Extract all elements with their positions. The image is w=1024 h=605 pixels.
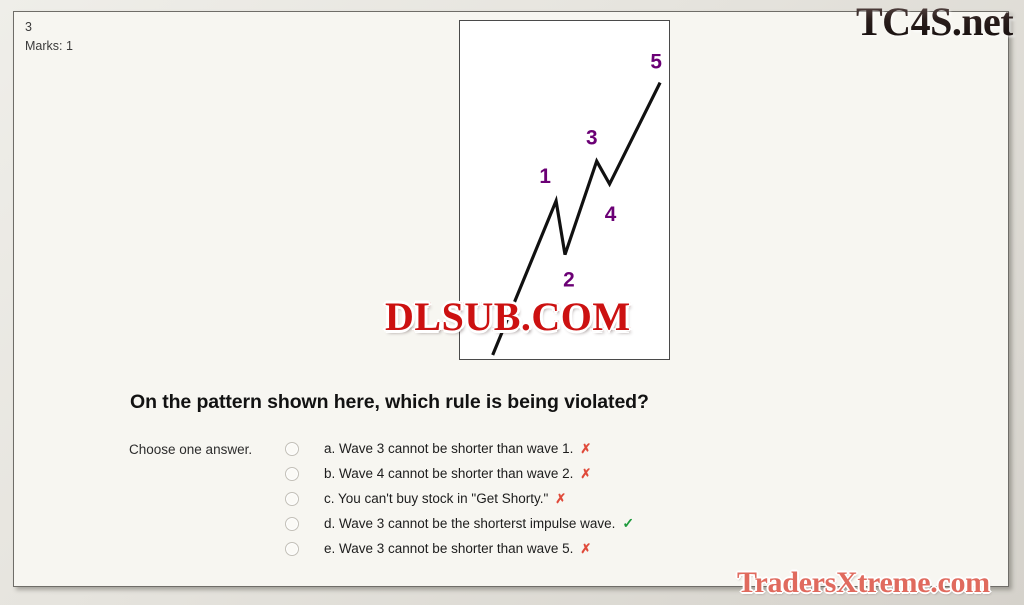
wave-label-3: 3 bbox=[586, 126, 598, 149]
choose-one-answer-label: Choose one answer. bbox=[129, 442, 252, 457]
answer-option-c[interactable]: c. You can't buy stock in "Get Shorty."✗ bbox=[282, 486, 842, 511]
wave-label-2: 2 bbox=[563, 268, 575, 291]
incorrect-answer-icon: ✗ bbox=[580, 541, 591, 557]
question-number: 3 bbox=[25, 18, 73, 37]
elliott-wave-chart: 12345 bbox=[459, 20, 670, 360]
radio-button-d[interactable] bbox=[285, 517, 299, 531]
incorrect-answer-icon: ✗ bbox=[580, 441, 591, 457]
answer-options-list: a. Wave 3 cannot be shorter than wave 1.… bbox=[282, 436, 842, 561]
answer-text-c: c. You can't buy stock in "Get Shorty." bbox=[324, 491, 548, 506]
incorrect-answer-icon: ✗ bbox=[580, 466, 591, 482]
answer-option-b[interactable]: b. Wave 4 cannot be shorter than wave 2.… bbox=[282, 461, 842, 486]
answer-option-d[interactable]: d. Wave 3 cannot be the shorterst impuls… bbox=[282, 511, 842, 536]
question-prompt: On the pattern shown here, which rule is… bbox=[130, 391, 649, 414]
radio-button-e[interactable] bbox=[285, 542, 299, 556]
answer-option-e[interactable]: e. Wave 3 cannot be shorter than wave 5.… bbox=[282, 536, 842, 561]
answer-text-b: b. Wave 4 cannot be shorter than wave 2. bbox=[324, 466, 573, 481]
radio-button-b[interactable] bbox=[285, 467, 299, 481]
radio-button-c[interactable] bbox=[285, 492, 299, 506]
quiz-question-panel: 3 Marks: 1 12345 DLSUB.COM On the patter… bbox=[13, 11, 1009, 587]
wave-chart-svg: 12345 bbox=[460, 21, 669, 359]
impulse-wave-line bbox=[493, 83, 660, 355]
incorrect-answer-icon: ✗ bbox=[555, 491, 566, 507]
question-marks: Marks: 1 bbox=[25, 37, 73, 56]
wave-label-1: 1 bbox=[539, 165, 551, 188]
question-meta: 3 Marks: 1 bbox=[25, 18, 73, 57]
answer-option-a[interactable]: a. Wave 3 cannot be shorter than wave 1.… bbox=[282, 436, 842, 461]
wave-label-4: 4 bbox=[605, 203, 617, 226]
answer-text-a: a. Wave 3 cannot be shorter than wave 1. bbox=[324, 441, 573, 456]
correct-answer-icon: ✓ bbox=[622, 515, 634, 532]
radio-button-a[interactable] bbox=[285, 442, 299, 456]
answer-text-d: d. Wave 3 cannot be the shorterst impuls… bbox=[324, 516, 615, 531]
wave-label-5: 5 bbox=[650, 51, 662, 74]
answer-text-e: e. Wave 3 cannot be shorter than wave 5. bbox=[324, 541, 573, 556]
